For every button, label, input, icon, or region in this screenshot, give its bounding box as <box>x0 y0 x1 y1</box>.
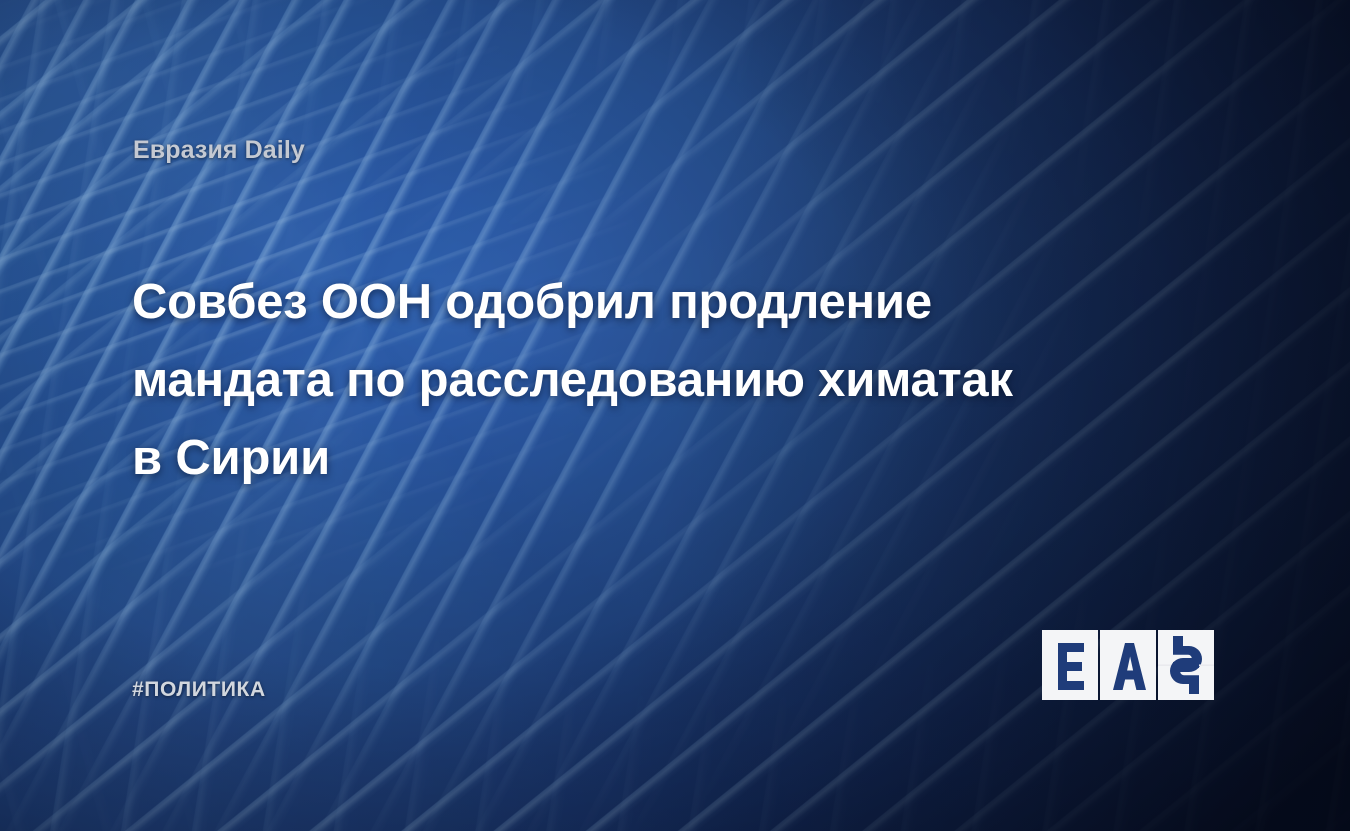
headline: Совбез ООН одобрил продление мандата по … <box>132 263 1132 497</box>
eadaily-logo-mark <box>1042 630 1222 702</box>
card-content: Евразия Daily Совбез ООН одобрил продлен… <box>0 0 1350 831</box>
news-share-card: Евразия Daily Совбез ООН одобрил продлен… <box>0 0 1350 831</box>
headline-line-2: мандата по расследованию химатак <box>132 341 1132 419</box>
brand-name: Евразия Daily <box>133 136 305 165</box>
headline-line-3: в Сирии <box>132 419 1132 497</box>
headline-line-1: Совбез ООН одобрил продление <box>132 263 1132 341</box>
logo-letter-e <box>1058 643 1084 690</box>
eadaily-logo <box>1042 630 1222 702</box>
category-tag-politics[interactable]: #ПОЛИТИКА <box>132 678 266 702</box>
